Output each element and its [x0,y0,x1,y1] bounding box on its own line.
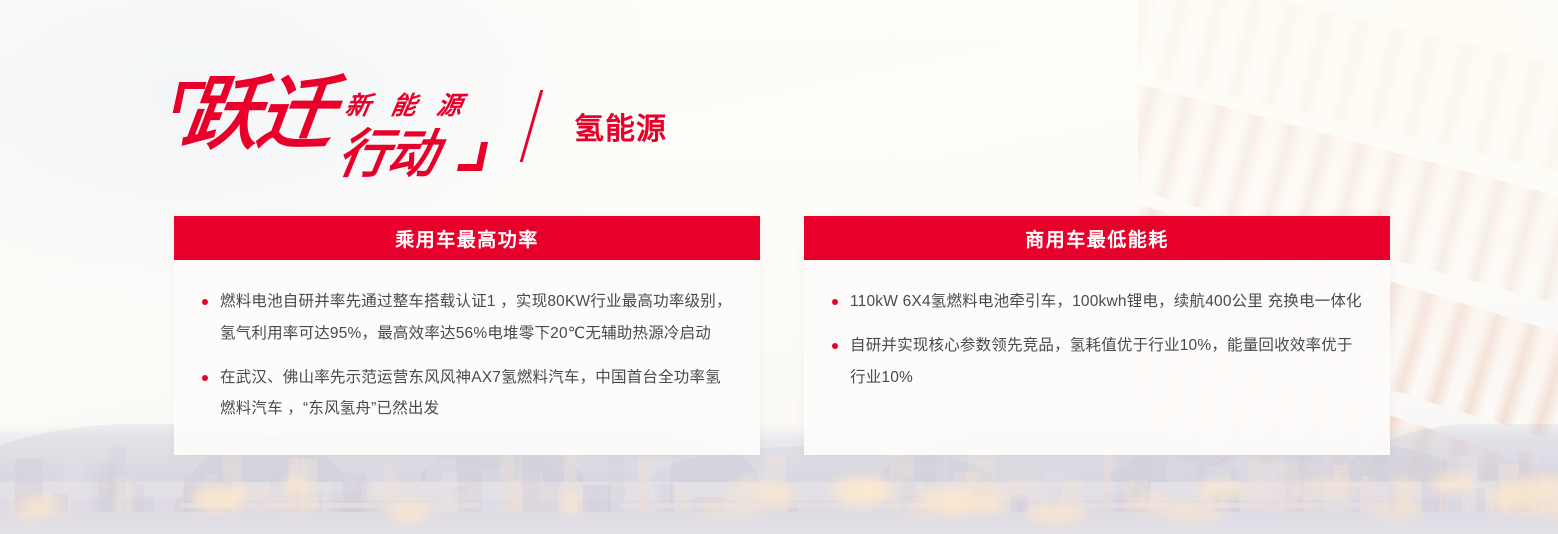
city-building [255,485,273,512]
slash-divider-icon [502,90,564,162]
city-building [1285,447,1304,512]
city-building [1167,456,1183,512]
city-building [968,449,995,512]
bullet-dot-icon [202,375,208,381]
city-building [530,462,559,512]
city-building [953,472,968,512]
city-building [543,490,571,512]
card-body: 110kW 6X4氢燃料电池牵引车，100kwh锂电，续航400公里 充换电一体… [804,260,1390,423]
architecture-slat [1218,112,1270,219]
logo-main-text: 跃迁 [178,74,337,155]
city-bridge [1080,503,1380,508]
city-light-glow [958,481,1004,503]
city-building [1461,469,1475,512]
architecture-louvre-band [1138,0,1558,197]
city-building [846,477,872,512]
city-building [1247,459,1269,512]
city-building [512,480,540,512]
city-building [505,449,521,512]
architecture-slat [1537,65,1558,172]
city-light-glow [1196,479,1243,501]
list-item-text: 110kW 6X4氢燃料电池牵引车，100kwh锂电，续航400公里 充换电一体… [850,293,1362,310]
city-light-glow [1476,487,1517,509]
architecture-slat [1415,436,1473,480]
city-building [1470,488,1484,512]
city-building [1345,487,1360,512]
city-building [1509,478,1529,512]
city-light-glow [732,479,762,501]
info-card: 商用车最低能耗110kW 6X4氢燃料电池牵引车，100kwh锂电，续航400公… [804,216,1390,455]
city-building [1394,494,1405,512]
architecture-slat [1502,57,1551,164]
city-building [1518,452,1534,512]
city-light-glow [30,495,65,517]
city-building [458,449,482,512]
list-item: 自研并实现核心参数领先竞品，氢耗值优于行业10%，能量回收效率优于行业10% [828,330,1362,394]
city-building [1333,465,1349,512]
city-building [564,449,577,512]
city-building [963,485,973,512]
bullet-dot-icon [832,343,838,349]
city-light-glow [1389,474,1419,496]
city-building [270,473,300,512]
city-building [899,482,915,512]
city-light-glow [9,495,42,517]
architecture-slat [1381,424,1439,480]
city-building [1395,486,1416,512]
city-building [1495,461,1517,512]
city-building [1303,494,1314,512]
city-light-glow [1026,502,1086,524]
architecture-slat [1253,122,1305,229]
city-light-glow [393,499,434,521]
architecture-slat [1456,311,1511,418]
city-building [107,447,126,513]
city-building [608,448,625,512]
city-bridge [620,503,980,508]
city-building [291,459,306,512]
bullet-dot-icon [832,299,838,305]
architecture-slat [1152,0,1201,83]
city-light-glow [365,481,408,503]
architecture-slat [1184,103,1236,210]
city-building [99,462,117,512]
brand-logo: 跃迁 新 能 源 行动 [176,80,476,172]
city-light-glow [1490,482,1557,504]
city-building [131,483,144,512]
city-building [924,448,943,512]
city-building [14,495,33,512]
city-building [1438,487,1448,512]
city-light-glow [830,477,890,499]
city-light-glow [1289,479,1308,501]
city-building [1361,476,1368,512]
city-light-glow [835,485,884,507]
city-building [1493,484,1502,512]
city-building [1274,464,1289,512]
city-building [1528,465,1539,512]
city-building [1211,492,1240,512]
city-building [295,495,304,512]
city-building [693,497,723,512]
bullet-list: 燃料电池自研并率先通过整车搭载认证1 ，实现80KW行业最高功率级别，氢气利用率… [198,286,732,425]
city-building [1341,496,1363,512]
architecture-slat [1432,40,1481,147]
architecture-slat [1138,84,1166,191]
city-building [522,447,540,512]
city-light-glow [943,495,1000,517]
page-title: 氢能源 [574,104,667,148]
city-light-glow [870,479,892,501]
architecture-slat [1362,24,1411,131]
city-light-glow [919,486,969,508]
architecture-slat [1292,8,1341,115]
city-building [1104,455,1111,512]
city-building [1499,464,1519,512]
architecture-slat [1327,16,1376,123]
city-building [889,447,914,512]
city-building [454,490,475,512]
list-item: 在武汉、佛山率先示范运营东风风神AX7氢燃料汽车，中国首台全功率氢燃料汽车 ，“… [198,362,732,426]
city-building [1285,462,1299,512]
city-building [901,477,916,512]
city-building [433,501,459,512]
city-building [661,476,672,512]
city-light-glow [1372,499,1421,521]
list-item: 110kW 6X4氢燃料电池牵引车，100kwh锂电，续航400公里 充换电一体… [828,286,1362,318]
city-building [605,493,633,512]
city-building [1447,455,1477,512]
list-item-text: 燃料电池自研并率先通过整车搭载认证1 ，实现80KW行业最高功率级别，氢气利用率… [220,293,732,342]
city-building [638,457,650,512]
city-light-glow [724,478,784,500]
city-building [1011,495,1027,512]
city-building [1018,498,1027,512]
city-light-glow [561,493,581,515]
city-building [189,475,218,512]
city-building [183,486,210,512]
city-light-glow [388,502,426,524]
city-building [1205,466,1223,512]
city-building [132,497,154,512]
city-building [1389,484,1398,512]
city-building [1251,463,1276,512]
architecture-slat [1421,300,1476,407]
city-building [27,476,35,512]
city-light-glow [1430,472,1477,494]
city-building [427,457,456,512]
city-building [289,451,300,512]
list-item-text: 在武汉、佛山率先示范运营东风风神AX7氢燃料汽车，中国首台全功率氢燃料汽车 ，“… [220,369,721,418]
city-building [788,502,798,512]
city-light-glow [1159,501,1225,523]
city-building [1230,487,1241,512]
info-card: 乘用车最高功率燃料电池自研并率先通过整车搭载认证1 ，实现80KW行业最高功率级… [174,216,760,455]
card-body: 燃料电池自研并率先通过整车搭载认证1 ，实现80KW行业最高功率级别，氢气利用率… [174,260,760,455]
city-building [1117,452,1137,512]
city-light-glow [1001,477,1044,499]
city-light-glow [1508,475,1558,497]
architecture-slat [1531,196,1558,303]
city-building [1129,480,1148,512]
city-building [966,472,979,512]
city-building [1119,498,1133,512]
city-building [63,460,83,512]
city-building [843,498,870,512]
city-building [91,473,113,512]
city-building [1130,491,1149,512]
city-light-glow [1307,476,1357,498]
bullet-dot-icon [202,299,208,305]
architecture-slat [1467,49,1516,156]
city-building [1182,463,1196,512]
city-light-glow [193,484,251,506]
architecture-slat [1257,0,1306,107]
city-building [333,482,362,512]
architecture-slat [1484,459,1542,480]
city-building [1422,464,1439,512]
card-header: 乘用车最高功率 [174,216,760,260]
city-building [898,496,910,512]
city-light-glow [854,481,882,503]
city-building [99,502,122,512]
city-building [655,484,674,512]
city-building [206,478,232,512]
city-building [1436,490,1466,512]
city-building [936,457,949,512]
city-building [761,454,788,512]
city-building [511,496,539,512]
city-light-glow [1524,498,1558,520]
city-building [351,468,372,512]
slide-canvas: 跃迁 新 能 源 行动 氢能源 乘用车最高功率燃料电池自研并率先通过整车搭载认证… [0,0,1558,534]
city-building [1298,454,1325,512]
architecture-slat [1187,0,1236,91]
city-building [357,501,380,512]
city-building [114,476,134,512]
city-building [442,473,459,512]
city-light-glow [905,497,967,519]
city-building [1401,494,1409,512]
city-building [354,470,373,512]
city-building [677,490,691,512]
city-building [103,493,119,512]
architecture-slat [1518,471,1558,480]
architecture-slat [1497,187,1549,294]
city-building [926,492,934,512]
architecture-slat [1427,168,1479,275]
city-building [1104,492,1125,512]
bullet-list: 110kW 6X4氢燃料电池牵引车，100kwh锂电，续航400公里 充换电一体… [828,286,1362,393]
city-light-glow [978,491,1010,513]
city-building [518,473,543,512]
city-building [1221,462,1231,512]
city-building [451,486,469,512]
city-light-glow [1233,479,1277,501]
city-building [1135,451,1152,512]
city-building [1323,493,1353,512]
city-building [583,485,611,512]
list-item-text: 自研并实现核心参数领先竞品，氢耗值优于行业10%，能量回收效率优于行业10% [850,337,1353,386]
city-building [1063,479,1084,512]
city-building [500,455,514,512]
architecture-slat [1387,290,1442,397]
card-header: 商用车最低能耗 [804,216,1390,260]
city-building [103,494,124,512]
city-building [1429,501,1458,512]
city-building [289,457,300,512]
city-river [0,500,1558,534]
city-building [1458,456,1478,512]
city-light-glow [267,490,321,512]
city-building [302,493,321,512]
city-building [384,466,394,512]
header: 跃迁 新 能 源 行动 氢能源 [176,78,667,174]
city-building [1266,497,1284,512]
city-building [15,459,43,512]
architecture-slat [1397,32,1446,139]
city-building [52,494,68,512]
city-light-glow [193,491,238,513]
city-building [1043,473,1064,512]
city-building [1311,479,1323,512]
city-building [345,494,354,512]
city-building [343,473,368,512]
card-group: 乘用车最高功率燃料电池自研并率先通过整车搭载认证1 ，实现80KW行业最高功率级… [174,216,1390,455]
city-light-glow [757,484,795,506]
city-building [184,475,206,512]
city-building [1464,499,1477,512]
city-building [1541,472,1558,512]
city-building [444,492,465,512]
architecture-slat [1490,321,1545,428]
city-building [1216,488,1238,512]
city-building [175,498,186,512]
city-building [103,481,119,512]
city-building [290,446,301,512]
city-building [1048,487,1062,512]
city-building [1126,497,1137,512]
architecture-slat [1450,447,1508,480]
city-building [330,491,361,512]
city-building [293,458,317,512]
city-building [1180,493,1190,512]
city-building [741,471,768,512]
city-building [766,457,786,512]
list-item: 燃料电池自研并率先通过整车搭载认证1 ，实现80KW行业最高功率级别，氢气利用率… [198,286,732,350]
city-building [1363,475,1379,512]
city-building [1441,488,1469,512]
city-light-glow [284,473,307,495]
city-building [1289,488,1301,512]
city-building [222,482,231,512]
architecture-slat [1525,332,1558,439]
city-building [649,457,671,512]
city-building [1552,478,1558,512]
architecture-slat [1149,94,1201,201]
city-light-glow [1489,492,1542,514]
city-bridge [180,503,480,508]
city-building [223,452,241,512]
architecture-slat [1392,159,1444,266]
architecture-slat [1462,178,1514,285]
city-light-glow [19,499,47,521]
logo-subtitle-bottom: 行动 [333,112,444,188]
city-building [1529,449,1540,512]
bracket-close-icon [457,142,488,171]
city-building [899,496,929,512]
city-building [482,470,504,512]
city-building [1122,483,1135,512]
city-light-glow [1131,492,1168,514]
city-building [338,502,360,512]
city-building [971,489,992,512]
city-building [973,496,993,512]
city-building [737,491,746,512]
architecture-slat [1222,0,1271,99]
city-light-glow [699,498,766,520]
architecture-slat [1138,0,1165,75]
